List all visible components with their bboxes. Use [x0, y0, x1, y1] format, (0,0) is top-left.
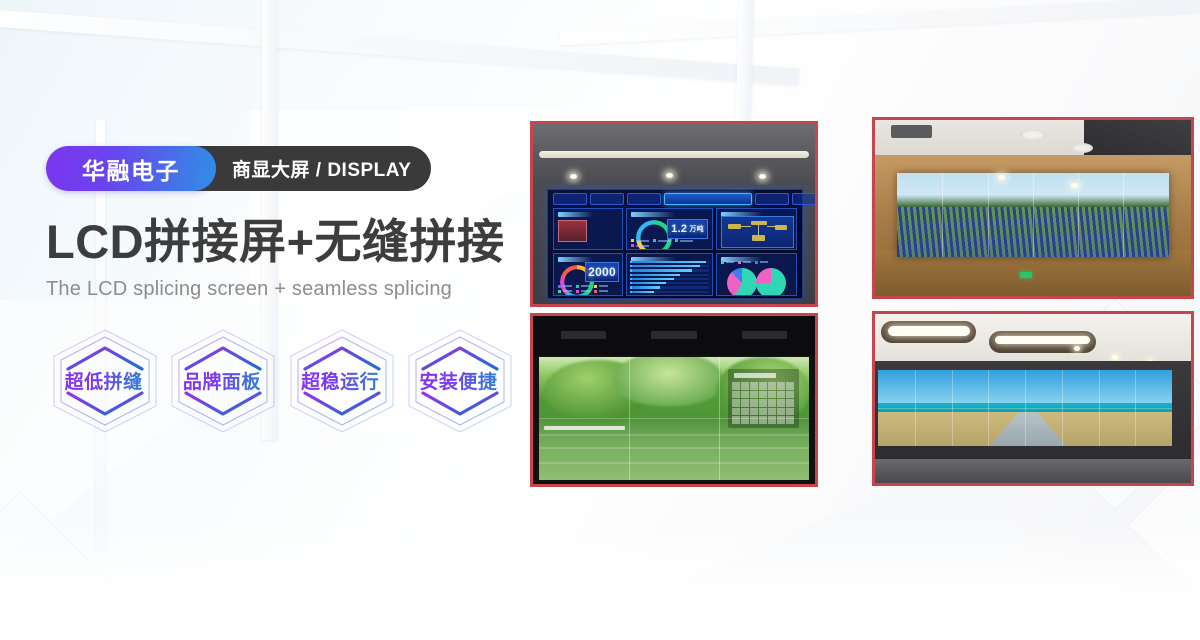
- secondary-metric-value: 2000: [588, 265, 616, 279]
- feature-hexagon: 超稳运行: [283, 325, 398, 437]
- brand-badge-row: 商显大屏 / DISPLAY 华融电子: [46, 146, 516, 191]
- railing: [544, 426, 625, 430]
- ceiling-spotlight: [666, 173, 673, 178]
- calendar-header: [734, 373, 776, 378]
- photo-beach-boardwalk-video-wall: [872, 311, 1194, 486]
- dashboard-card-ranking-bars: [626, 253, 713, 295]
- ceiling-fixture: [1020, 129, 1046, 141]
- video-wall-screen: [539, 357, 810, 480]
- ceiling-light-strip: [995, 336, 1090, 344]
- bar-chart: [630, 261, 709, 293]
- bar-row: [630, 282, 709, 284]
- feature-hexagon: 品牌面板: [164, 325, 279, 437]
- bar-row: [630, 265, 709, 267]
- card-thumbnail: [558, 220, 587, 242]
- pie-chart: [727, 268, 757, 296]
- upper-bezel: [533, 316, 815, 355]
- bar-row: [630, 278, 709, 280]
- dashboard-card-primary-metric: 1.2 万吨: [626, 208, 713, 250]
- photo-willow-pond-video-wall: [530, 313, 818, 487]
- willow-tree: [614, 357, 722, 406]
- ceiling-light-strip: [888, 326, 970, 336]
- headline-column: 商显大屏 / DISPLAY 华融电子 LCD拼接屏+无缝拼接 The LCD …: [46, 146, 516, 437]
- card-header: [558, 212, 593, 217]
- dashboard-card-intro: [553, 208, 623, 250]
- photo-data-dashboard-video-wall: 1.2 万吨: [530, 121, 818, 307]
- dashboard-screen: 1.2 万吨: [547, 189, 803, 299]
- video-wall-screen: [897, 173, 1169, 257]
- bar-row: [630, 274, 709, 276]
- dashboard-grid: 1.2 万吨: [553, 208, 797, 295]
- feature-label: 超低拼缝: [65, 367, 143, 394]
- dashboard-card-secondary-metric: 2000: [553, 253, 623, 295]
- calendar-grid: [732, 382, 794, 423]
- primary-metric-unit: 万吨: [689, 224, 704, 234]
- promo-banner: 商显大屏 / DISPLAY 华融电子 LCD拼接屏+无缝拼接 The LCD …: [0, 0, 1200, 640]
- card-header: [631, 212, 675, 217]
- primary-metric-value: 1.2: [671, 223, 687, 235]
- dashboard-navbar: [553, 192, 797, 206]
- background-beam: [560, 0, 1200, 45]
- dashboard-title-chip: [664, 193, 752, 206]
- brand-name-badge: 华融电子: [46, 146, 216, 191]
- background-diamond: [0, 491, 119, 640]
- nav-chip: [553, 193, 587, 205]
- cornice: [539, 151, 810, 158]
- primary-metric-box: 1.2 万吨: [667, 219, 708, 240]
- nav-chip: [627, 193, 661, 205]
- dashboard-card-flow-diagram: [716, 208, 796, 250]
- exit-sign: [1020, 272, 1032, 278]
- ceiling-fixture: [1071, 143, 1093, 153]
- pond-water: [539, 423, 810, 479]
- floor: [875, 459, 1191, 483]
- feature-hexagon-row: 超低拼缝 品牌面板 超稳运行: [46, 325, 516, 437]
- feature-label: 安装便捷: [419, 367, 497, 394]
- feature-hexagon: 安装便捷: [401, 325, 516, 437]
- ceiling-vent: [891, 125, 932, 137]
- feature-hexagon: 超低拼缝: [46, 325, 161, 437]
- background-floor-fade: [0, 520, 1200, 640]
- bar-row: [630, 269, 709, 271]
- flow-diagram: [721, 216, 794, 248]
- photo-solar-farm-video-wall: [872, 117, 1194, 299]
- page-subtitle: The LCD splicing screen + seamless splic…: [46, 278, 516, 301]
- feature-label: 超稳运行: [301, 367, 379, 394]
- chart-legend: [721, 261, 792, 264]
- feature-label: 品牌面板: [183, 367, 261, 394]
- background-beam: [0, 7, 799, 85]
- chart-legend: [631, 239, 708, 247]
- chart-legend: [558, 285, 619, 293]
- video-wall-screen: [878, 370, 1172, 446]
- bar-row: [630, 291, 709, 293]
- nav-chip: [792, 193, 815, 205]
- bar-row: [630, 261, 709, 263]
- nav-chip: [590, 193, 624, 205]
- nav-chip: [755, 193, 789, 205]
- page-title: LCD拼接屏+无缝拼接: [46, 217, 516, 267]
- dashboard-card-pie-charts: [716, 253, 796, 295]
- bar-row: [630, 286, 709, 288]
- pie-chart: [756, 268, 786, 296]
- secondary-metric-box: 2000: [585, 262, 618, 282]
